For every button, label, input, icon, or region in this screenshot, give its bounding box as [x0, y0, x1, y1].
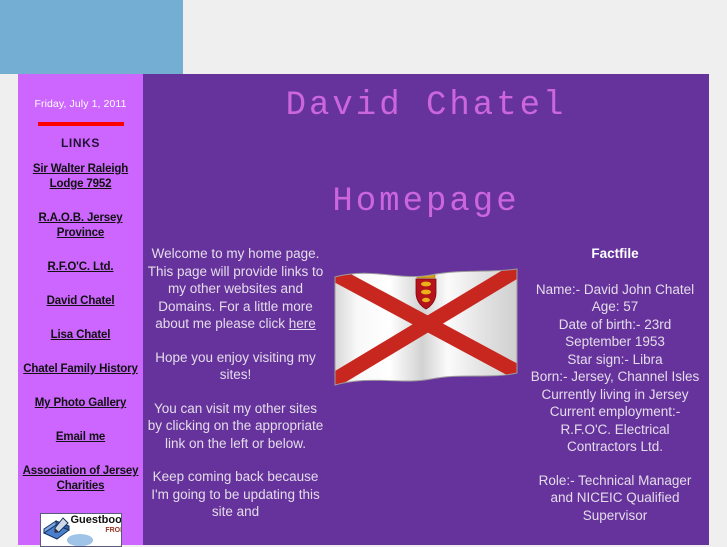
page-body: Friday, July 1, 2011 LINKS Sir Walter Ra…	[18, 74, 709, 545]
sidebar-link-david-chatel[interactable]: David Chatel	[18, 294, 143, 309]
sidebar-link-raob-jersey-province[interactable]: R.A.O.B. Jersey Province	[18, 211, 143, 241]
factfile-line-star-sign: Star sign:- Libra	[567, 352, 662, 367]
three-column-layout: Welcome to my home page. This page will …	[143, 221, 709, 540]
paragraph-visit: You can visit my other sites by clicking…	[146, 400, 325, 453]
factfile-line-name: Name:- David John Chatel	[536, 282, 694, 297]
factfile-line-employer-1: R.F.O'C. Electrical	[560, 422, 669, 437]
factfile-line-dob-1: Date of birth:- 23rd	[559, 317, 672, 332]
factfile-column: Factfile Name:- David John Chatel Age: 5…	[523, 245, 709, 540]
factfile-heading: Factfile	[527, 245, 703, 263]
content-area: David Chatel Homepage Welcome to my home…	[143, 74, 709, 545]
top-banner-strip	[0, 0, 183, 74]
sidebar-link-sir-walter-raleigh-lodge[interactable]: Sir Walter Raleigh Lodge 7952	[18, 162, 143, 192]
paragraph-keep-coming-back: Keep coming back because I'm going to be…	[146, 468, 325, 521]
factfile-role-line-2: and NICEIC Qualified	[550, 490, 679, 505]
sidebar-divider-rule	[38, 122, 124, 126]
sidebar-link-my-photo-gallery[interactable]: My Photo Gallery	[18, 396, 143, 411]
sidebar-link-association-of-jersey-charities[interactable]: Association of Jersey Charities	[18, 464, 143, 494]
factfile-line-living: Currently living in Jersey	[541, 387, 688, 402]
flag-column	[328, 245, 523, 540]
guestbook-cloud-decoration	[67, 534, 93, 546]
sidebar-link-chatel-family-history[interactable]: Chatel Family History	[18, 362, 143, 377]
factfile-role-line-1: Role:- Technical Manager	[539, 473, 692, 488]
factfile-line-employer-2: Contractors Ltd.	[567, 439, 663, 454]
sidebar-link-email-me[interactable]: Email me	[18, 430, 143, 445]
intro-paragraph: Welcome to my home page. This page will …	[146, 245, 325, 333]
factfile-details: Name:- David John Chatel Age: 57 Date of…	[527, 281, 703, 456]
factfile-line-born: Born:- Jersey, Channel Isles	[531, 369, 700, 384]
jersey-flag-image	[331, 267, 521, 389]
sidebar: Friday, July 1, 2011 LINKS Sir Walter Ra…	[18, 74, 143, 545]
sidebar-link-rfoc-ltd[interactable]: R.F.O'C. Ltd.	[18, 260, 143, 275]
factfile-role: Role:- Technical Manager and NICEIC Qual…	[527, 472, 703, 525]
guestbook-title: Guestbook	[71, 514, 122, 527]
here-link[interactable]: here	[289, 316, 316, 331]
sidebar-link-lisa-chatel[interactable]: Lisa Chatel	[18, 328, 143, 343]
guestbook-book-icon	[43, 516, 70, 542]
guestbook-badge-link[interactable]: Guestbook FROM	[40, 513, 122, 547]
page-subtitle: Homepage	[143, 125, 709, 221]
factfile-role-line-3: Supervisor	[583, 508, 648, 523]
factfile-line-employment: Current employment:-	[550, 404, 681, 419]
guestbook-text-wrap: Guestbook FROM	[70, 514, 122, 535]
factfile-line-dob-2: September 1953	[565, 334, 665, 349]
paragraph-hope: Hope you enjoy visiting my sites!	[146, 349, 325, 384]
factfile-line-age: Age: 57	[592, 299, 639, 314]
page-title: David Chatel	[143, 74, 709, 125]
sidebar-links-heading: LINKS	[18, 136, 143, 150]
intro-text-column: Welcome to my home page. This page will …	[143, 245, 328, 540]
sidebar-date: Friday, July 1, 2011	[18, 98, 143, 110]
